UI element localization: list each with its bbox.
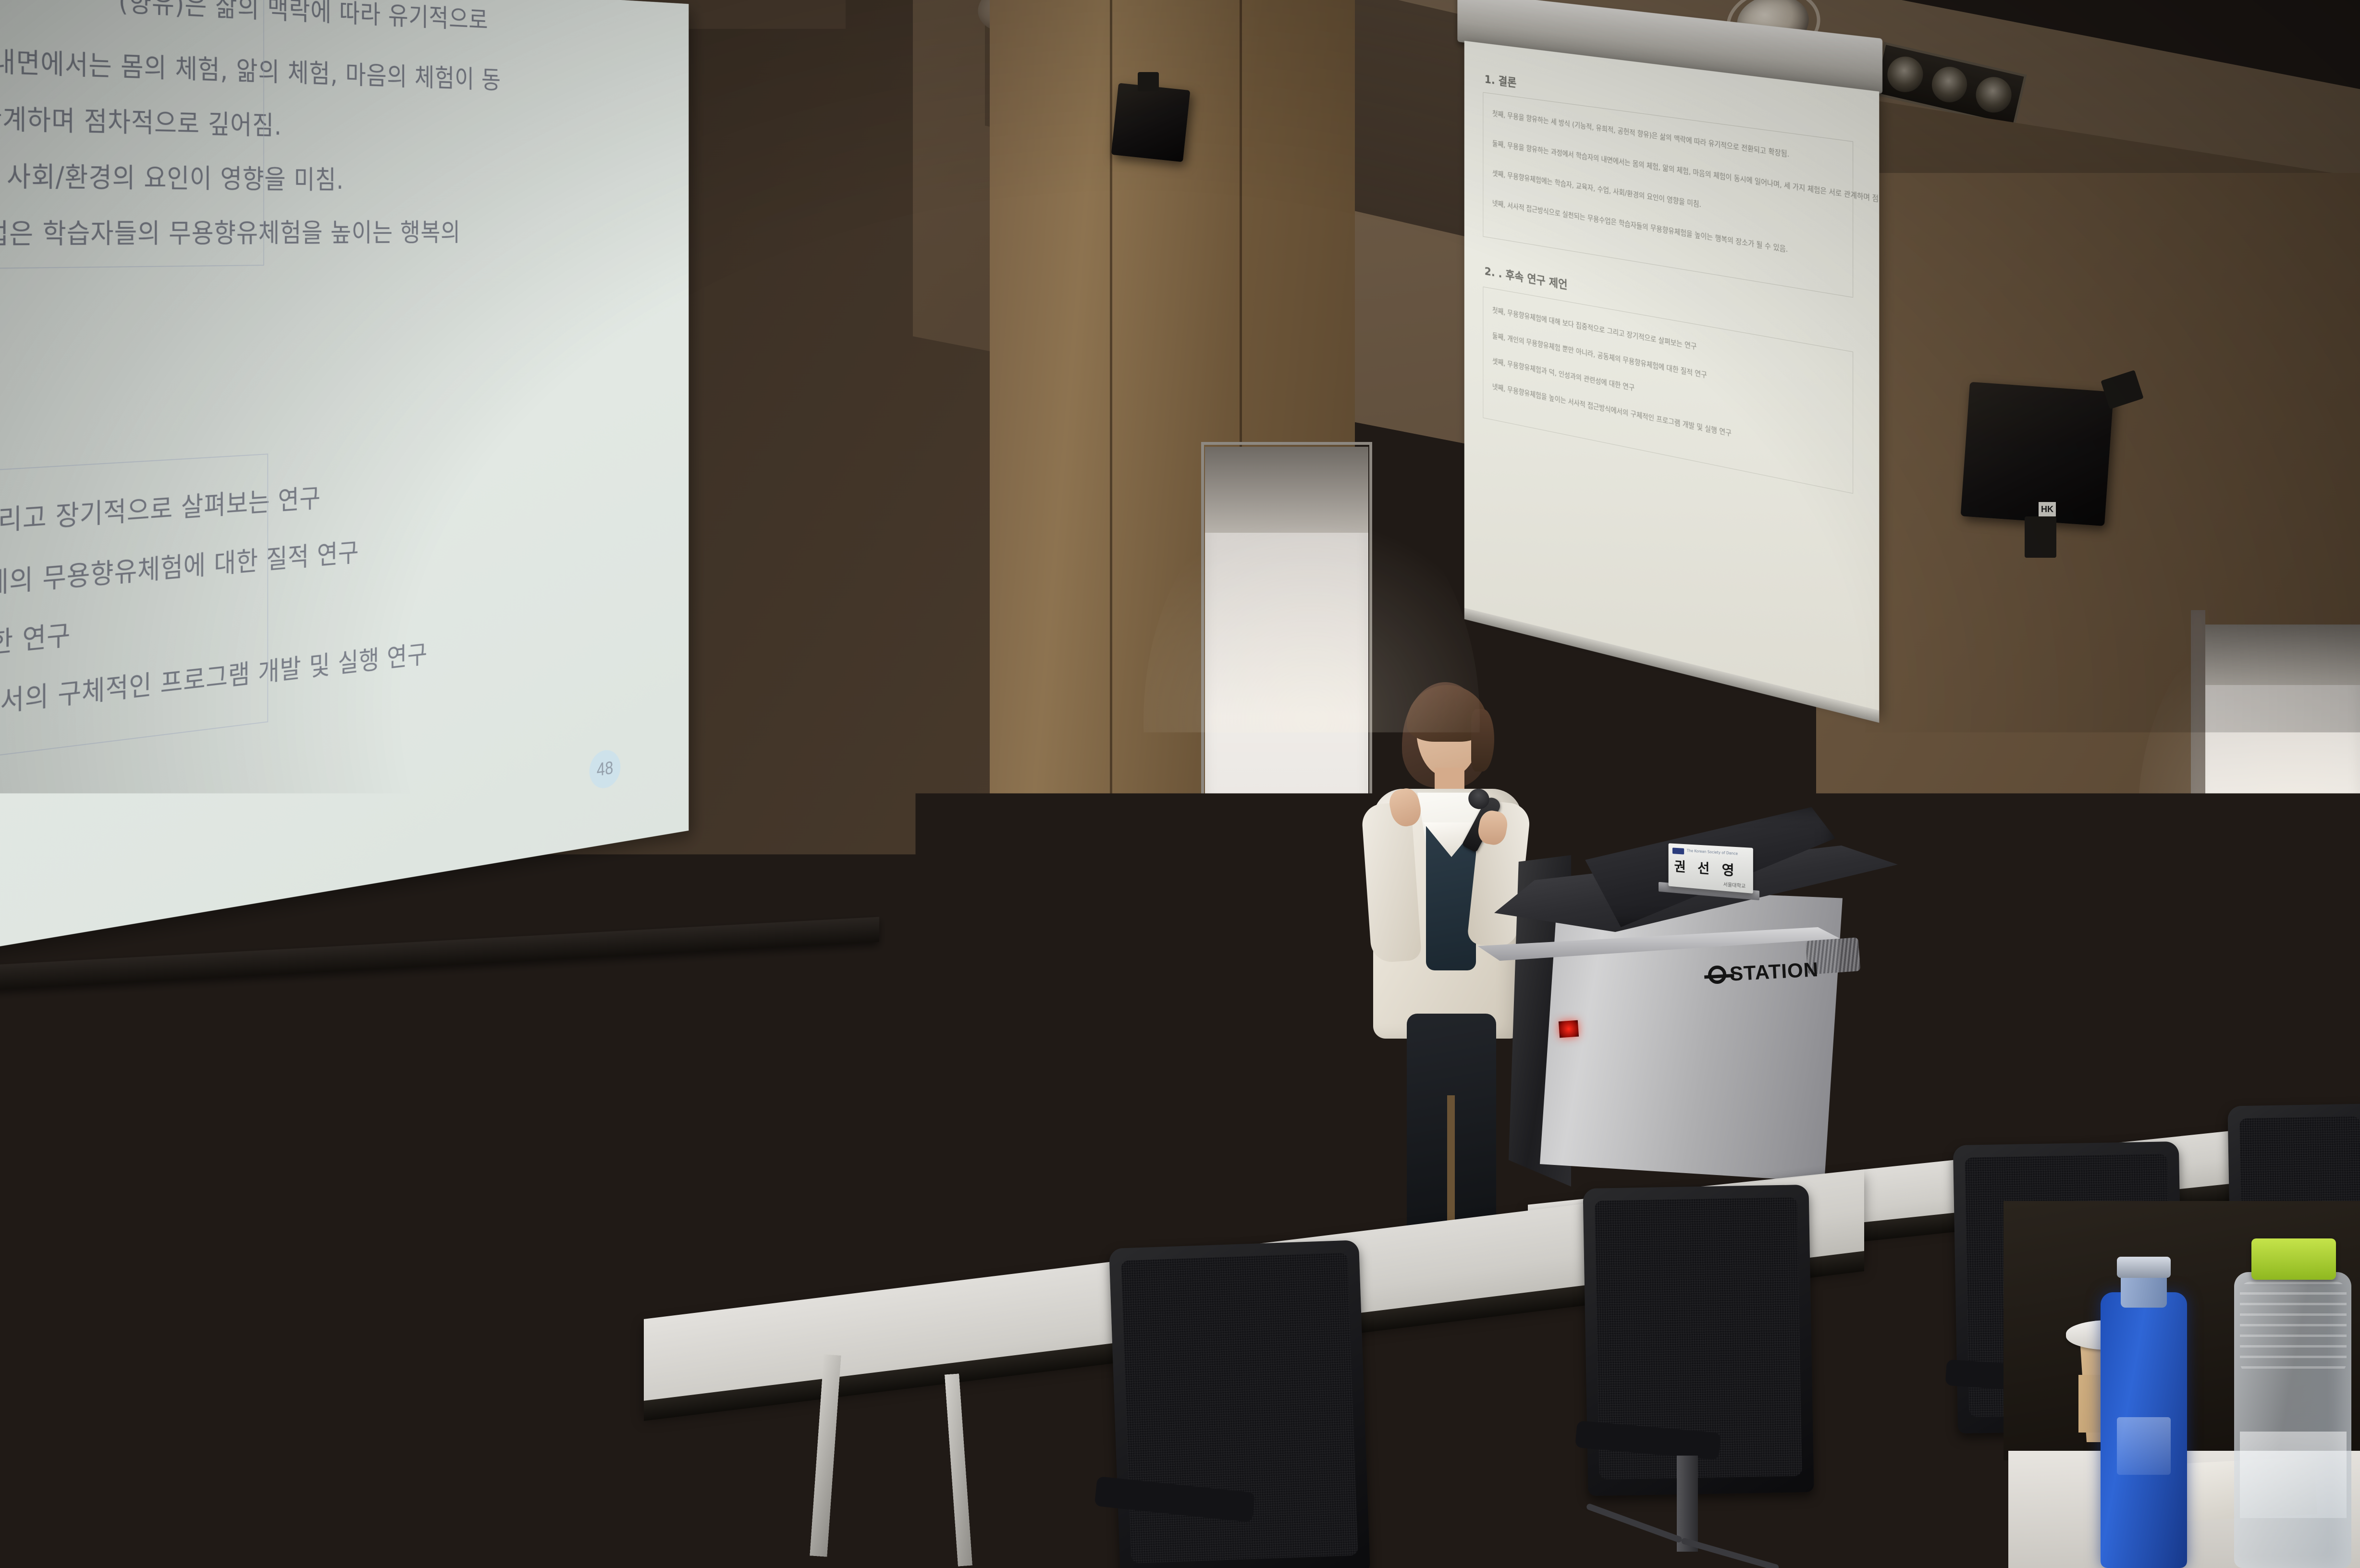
speaker-bracket-left [1138, 72, 1159, 91]
right-screen-assembly: 1. 결론 첫째, 무용을 향유하는 세 방식 (기능적, 유희적, 공헌적 향… [1457, 0, 1924, 793]
left-slide-page-number: 48 [590, 748, 621, 790]
table-front-left-leg [183, 1465, 199, 1568]
speaker-bracket-right [2025, 516, 2056, 558]
right-slide-section1-heading: 1. 결론 [1485, 71, 1517, 91]
left-slide-box-2 [0, 453, 268, 764]
window-blind-right[interactable] [2199, 625, 2360, 1004]
lectern-brand-text: STATION [1729, 958, 1819, 986]
wall-speaker-left [1111, 83, 1191, 162]
wall-seam [1110, 0, 1112, 1047]
left-projection-screen: (향유)은 삶의 맥락에 따라 유기적으로 의 내면에서는 몸의 체험, 앎의 … [0, 0, 688, 951]
blue-bottle-cap [2117, 1257, 2171, 1278]
blind-headrail [2199, 625, 2360, 685]
nameplate-organization: The Korean Society of Dance [1687, 848, 1738, 856]
presenter-hair-side [1471, 709, 1494, 772]
wall-speaker-right [1961, 382, 2114, 526]
e-station-e-icon [1708, 965, 1727, 984]
left-slide-content: (향유)은 삶의 맥락에 따라 유기적으로 의 내면에서는 몸의 체험, 앎의 … [0, 0, 688, 951]
water-bottle-cap [2251, 1238, 2336, 1280]
society-logo-icon [1672, 848, 1684, 855]
water-bottle-ridges [2240, 1282, 2347, 1373]
lectern-power-led [1559, 1020, 1579, 1038]
spot-lamp [1928, 63, 1970, 106]
blue-bottle-label [2117, 1417, 2171, 1475]
presenter-leg-gap [1447, 1095, 1455, 1225]
speaker-nameplate: The Korean Society of Dance 권 선 영 서울대학교 [1669, 843, 1753, 894]
window-blind-far-right[interactable] [2191, 610, 2205, 1014]
nameplate-inner: The Korean Society of Dance 권 선 영 서울대학교 [1672, 847, 1749, 890]
water-bottle-label [2240, 1432, 2347, 1518]
speaker-brand-badge: HK [2039, 502, 2056, 516]
nameplate-name: 권 선 영 [1674, 856, 1738, 880]
right-slide-section2-heading: 2. . 후속 연구 제언 [1485, 262, 1568, 293]
lecture-hall-photo: HK (향유)은 삶의 맥락에 따라 유기적으로 의 내면에서는 몸의 체험, … [0, 0, 2360, 1568]
right-projection-screen: 1. 결론 첫째, 무용을 향유하는 세 방식 (기능적, 유희적, 공헌적 향… [1464, 41, 1880, 713]
left-slide-box-1 [0, 0, 264, 269]
spot-lamp [1972, 73, 2015, 116]
nameplate-affiliation: 서울대학교 [1723, 880, 1746, 889]
